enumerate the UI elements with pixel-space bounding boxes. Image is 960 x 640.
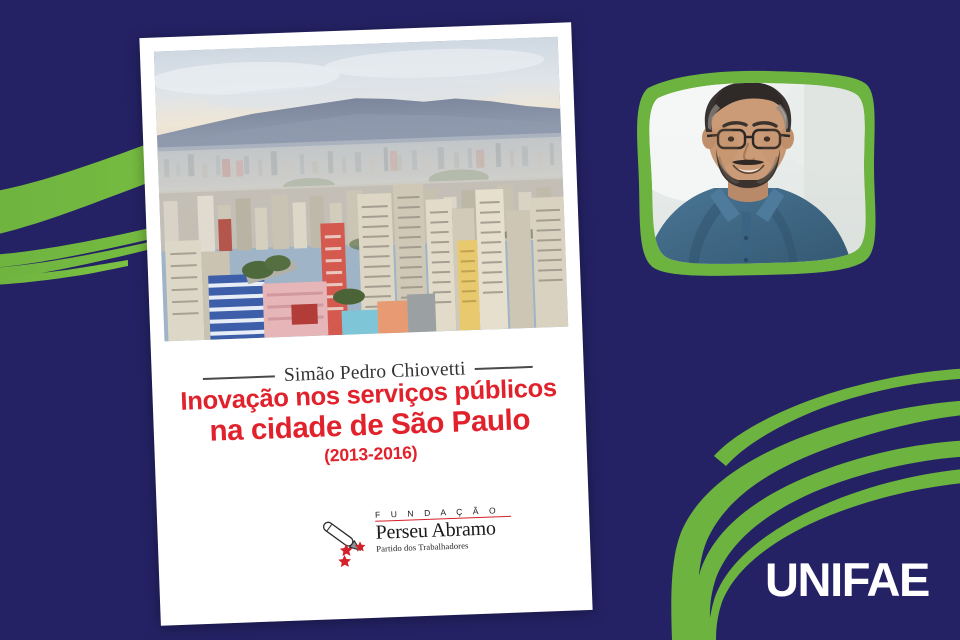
book-title-block: Inovação nos serviços públicos na cidade… [152, 374, 587, 472]
author-portrait [628, 62, 884, 288]
byline-rule-right [475, 366, 533, 370]
unifae-wordmark: UNIFAE [765, 556, 929, 604]
byline-rule-left [203, 375, 275, 380]
book-cover: Simão Pedro Chiovetti Inovação nos servi… [139, 22, 592, 625]
pen-and-stars-icon [305, 510, 377, 569]
promo-banner: Simão Pedro Chiovetti Inovação nos servi… [0, 0, 960, 640]
cover-photo-sao-paulo-cityscape [154, 37, 568, 342]
publisher-logo: F U N D A Ç Ã O Perseu Abramo Partido do… [305, 503, 517, 569]
publisher-logo-text: F U N D A Ç Ã O Perseu Abramo Partido do… [375, 505, 517, 554]
